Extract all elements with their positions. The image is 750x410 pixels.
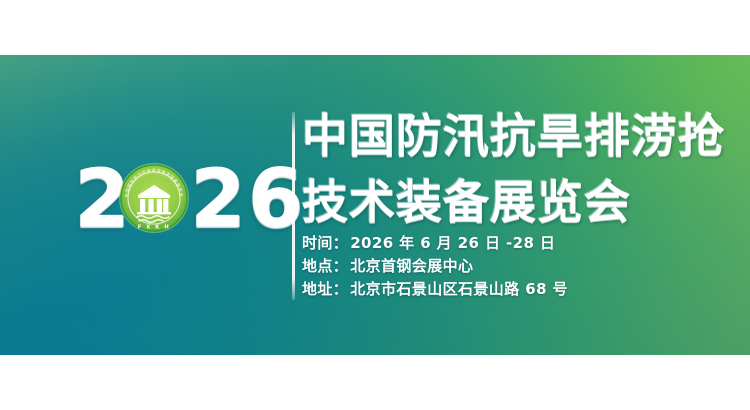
event-date-value: 2026 年 6 月 26 日 -28 日	[350, 234, 555, 252]
event-info-block: 时间：2026 年 6 月 26 日 -28 日 地点：北京首钢会展中心 地址：…	[302, 232, 722, 301]
event-banner: 2 26	[0, 55, 750, 355]
svg-text:F X K H: F X K H	[138, 224, 171, 230]
year-badge: 2 26	[72, 158, 287, 240]
event-venue: 地点：北京首钢会展中心	[302, 255, 722, 278]
event-venue-label: 地点：	[302, 257, 348, 275]
banner-headline: 中国防汛抗旱排涝抢 技术装备展览会	[302, 103, 750, 235]
event-venue-value: 北京首钢会展中心	[350, 257, 473, 275]
headline-line-1: 中国防汛抗旱排涝抢	[302, 103, 750, 169]
vertical-divider	[292, 112, 295, 300]
event-address: 地址：北京市石景山区石景山路 68 号	[302, 278, 722, 301]
event-date: 时间：2026 年 6 月 26 日 -28 日	[302, 232, 722, 255]
exhibition-logo-icon: 中国国际防汛抗旱排涝技术装备展览会	[118, 162, 190, 234]
event-date-label: 时间：	[302, 234, 348, 252]
year-digit-right: 26	[190, 158, 305, 240]
banner-stage: 2 26	[0, 0, 750, 410]
event-address-label: 地址：	[302, 280, 348, 298]
event-address-value: 北京市石景山区石景山路 68 号	[350, 280, 568, 298]
headline-line-2: 技术装备展览会	[302, 169, 750, 235]
